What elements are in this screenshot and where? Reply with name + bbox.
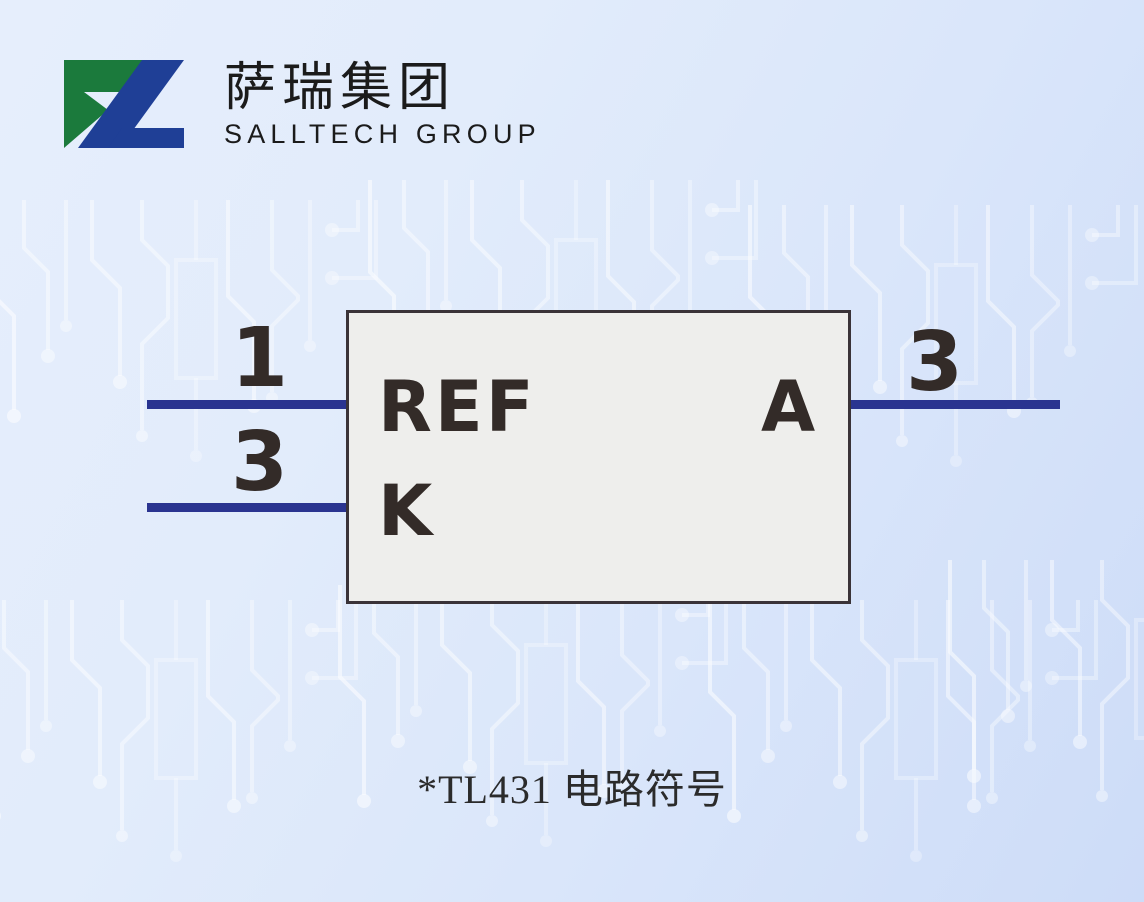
device-body-box bbox=[346, 310, 851, 604]
pin-number-1: 1 bbox=[231, 318, 288, 400]
slide-canvas: 萨瑞集团 SALLTECH GROUP 1 3 3 REF K A *TL431… bbox=[0, 0, 1144, 902]
figure-caption: *TL431 电路符号 bbox=[0, 766, 1144, 814]
pin-label-k: K bbox=[378, 476, 432, 546]
pin-number-3-right: 3 bbox=[906, 322, 963, 404]
pin-number-3-left: 3 bbox=[231, 422, 288, 504]
pin-label-ref: REF bbox=[378, 372, 537, 442]
pin-label-a: A bbox=[761, 372, 815, 442]
